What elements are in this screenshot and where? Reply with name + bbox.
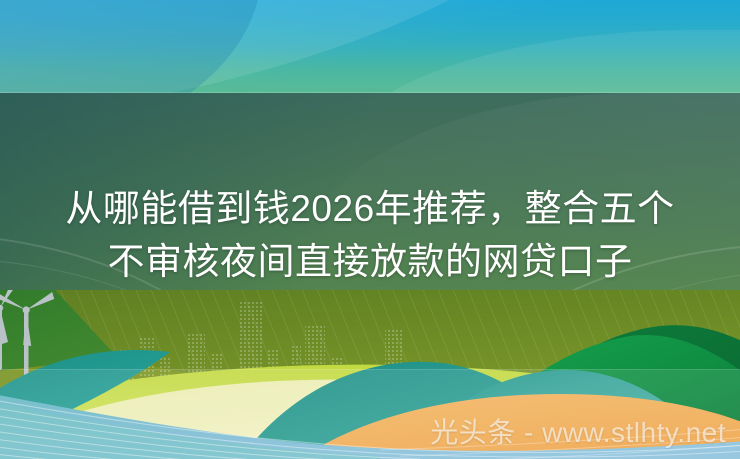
eco-landscape-banner: 从哪能借到钱2026年推荐，整合五个 不审核夜间直接放款的网贷口子 光头条 - … <box>0 0 740 459</box>
lower-overlay-edge <box>0 369 740 370</box>
headline-line-2: 不审核夜间直接放款的网贷口子 <box>0 235 740 288</box>
sky-gradient-band <box>0 0 740 93</box>
site-watermark: 光头条 - www.stlhty.net <box>430 411 726 451</box>
page-title: 从哪能借到钱2026年推荐，整合五个 不审核夜间直接放款的网贷口子 <box>0 182 740 288</box>
headline-line-1: 从哪能借到钱2026年推荐，整合五个 <box>0 182 740 235</box>
